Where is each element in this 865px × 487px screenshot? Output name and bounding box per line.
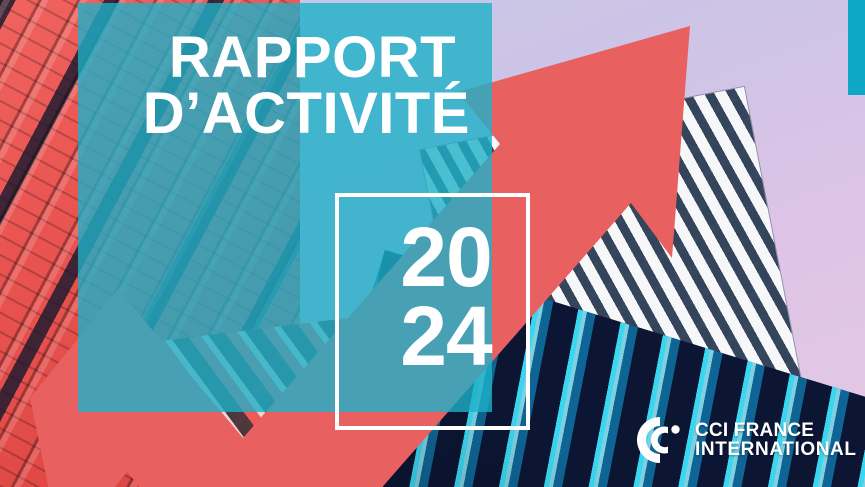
- year-badge: 20 24: [386, 218, 506, 376]
- cci-double-c-monogram-icon: [634, 414, 686, 466]
- teal-corner-accent: [848, 0, 865, 95]
- year-bottom: 24: [386, 297, 506, 376]
- cover-title: RAPPORT D’ACTIVITÉ: [0, 30, 478, 141]
- brand-logo-line2: INTERNATIONAL: [695, 440, 857, 459]
- brand-logo-line1: CCI FRANCE: [695, 421, 857, 440]
- year-top: 20: [386, 218, 506, 297]
- cover-title-line2: D’ACTIVITÉ: [0, 86, 478, 142]
- brand-logo-text: CCI FRANCE INTERNATIONAL: [695, 421, 857, 460]
- report-cover: RAPPORT D’ACTIVITÉ 20 24 CCI FRANCE INTE…: [0, 0, 865, 487]
- cover-title-line1: RAPPORT: [0, 30, 478, 86]
- brand-logo: CCI FRANCE INTERNATIONAL: [634, 414, 857, 466]
